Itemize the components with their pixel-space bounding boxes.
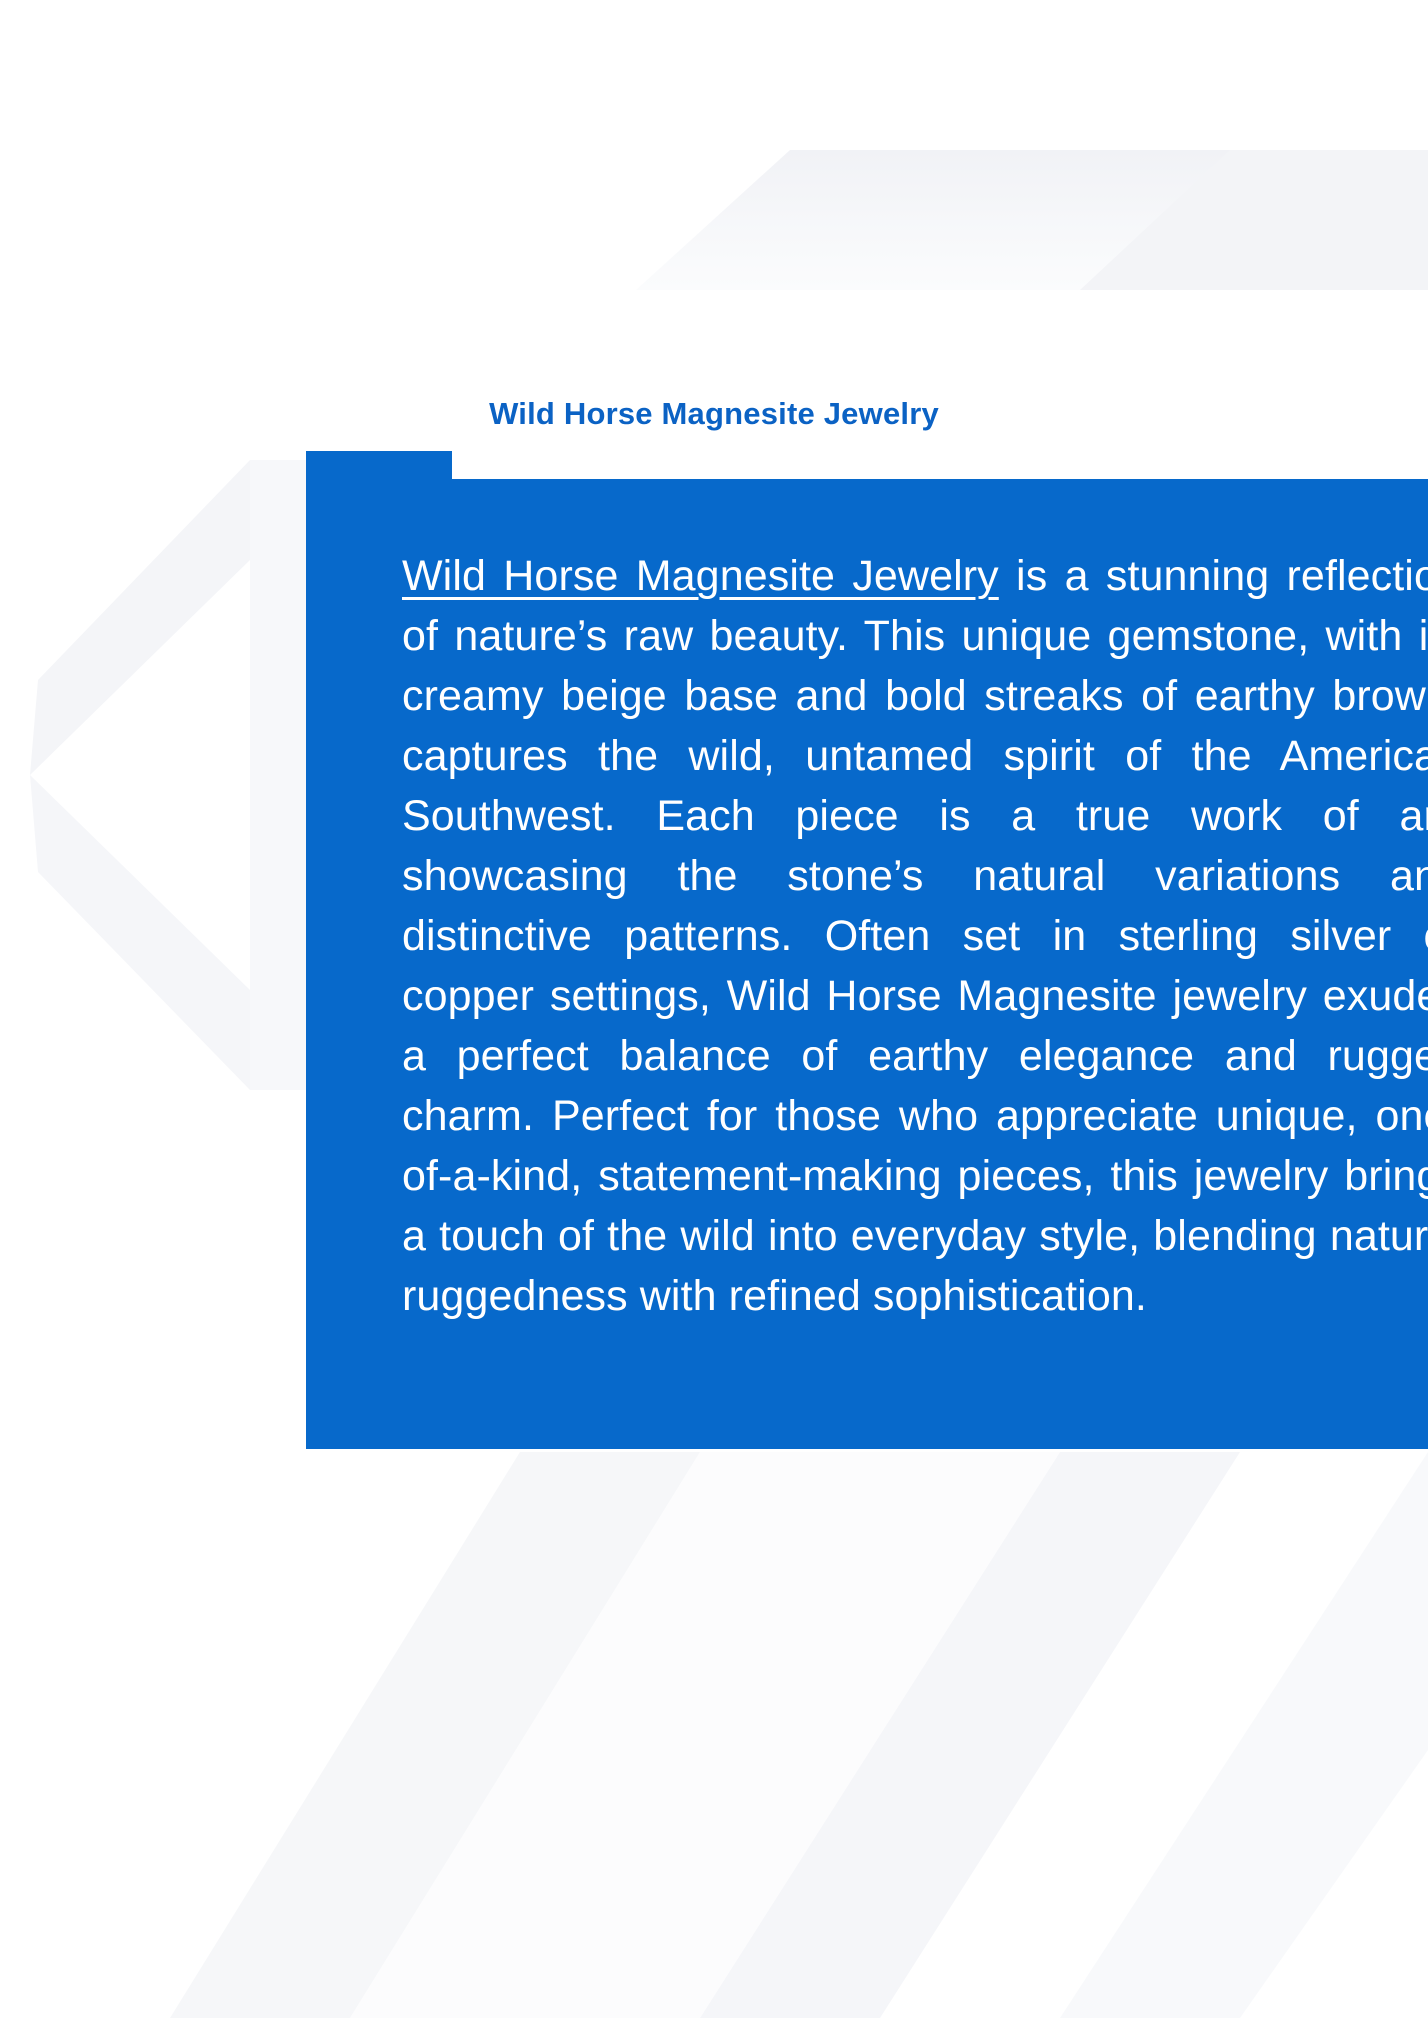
decor-shape-left-block	[250, 460, 306, 1090]
article-body-text: is a stunning reflection of nature’s raw…	[402, 552, 1428, 1320]
page-canvas: Wild Horse Magnesite Jewelry Wild Horse …	[0, 0, 1428, 2018]
decor-shape-top-right-2	[1080, 150, 1428, 290]
decor-shape-bottom-chevron-3	[1060, 1452, 1428, 2018]
article-panel: Wild Horse Magnesite Jewelry is a stunni…	[306, 451, 1428, 1449]
page-title: Wild Horse Magnesite Jewelry	[0, 396, 1428, 432]
article-body: Wild Horse Magnesite Jewelry is a stunni…	[402, 546, 1428, 1326]
decor-shape-left-arrow	[30, 460, 250, 775]
article-lead-link[interactable]: Wild Horse Magnesite Jewelry	[402, 552, 999, 600]
decor-shape-top-right	[636, 150, 1428, 290]
decor-shape-bottom-chevron-2	[700, 1452, 1240, 2018]
decor-shape-bottom-fill	[350, 1452, 1060, 2018]
decor-shape-bottom-chevron-1	[170, 1452, 700, 2018]
decor-shape-left-arrow-lower	[30, 775, 250, 1090]
